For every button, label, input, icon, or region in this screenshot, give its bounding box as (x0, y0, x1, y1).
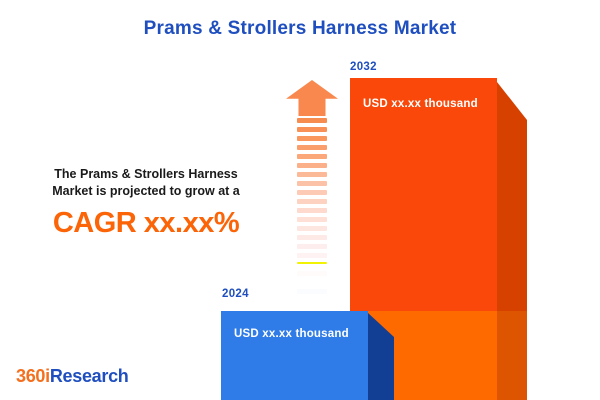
arrow-stripe (297, 181, 327, 186)
bar-2024-face (221, 311, 368, 400)
year-label-2032: 2032 (350, 61, 377, 73)
caption-line-1: The Prams & Strollers Harness (22, 166, 270, 183)
arrow-stripe (297, 163, 327, 168)
cagr-value: CAGR xx.xx% (22, 207, 270, 240)
page-title: Prams & Strollers Harness Market (0, 18, 600, 40)
bar-2024 (221, 311, 368, 400)
arrow-stripe (297, 262, 327, 264)
arrow-stripe (297, 271, 327, 276)
infographic-canvas: Prams & Strollers Harness Market 2032 US… (0, 0, 600, 400)
arrow-stripe (297, 190, 327, 195)
arrow-stripe (297, 235, 327, 240)
bar-2032-side-lower (497, 311, 527, 400)
growth-arrow-icon (286, 80, 338, 293)
logo-research-text: Research (50, 366, 129, 386)
arrow-head-icon (286, 80, 338, 116)
bar-value-2024: USD xx.xx thousand (234, 328, 349, 340)
arrow-stripe (297, 280, 327, 285)
arrow-stripe (297, 217, 327, 222)
arrow-stripe (297, 253, 327, 258)
arrow-stripe (297, 145, 327, 150)
arrow-stripe (297, 154, 327, 159)
growth-caption: The Prams & Strollers Harness Market is … (22, 166, 270, 240)
bar-value-2032: USD xx.xx thousand (363, 98, 478, 110)
arrow-stripe (297, 244, 327, 249)
arrow-stripe (297, 208, 327, 213)
year-label-2024: 2024 (222, 288, 249, 300)
arrow-stripe (297, 172, 327, 177)
arrow-stripe (297, 136, 327, 141)
arrow-stripe (297, 127, 327, 132)
arrow-stripe (297, 118, 327, 123)
logo-360i-text: 360i (16, 366, 50, 386)
arrow-stripes (297, 118, 327, 293)
caption-line-2: Market is projected to grow at a (22, 183, 270, 200)
company-logo: 360iResearch (16, 366, 129, 387)
arrow-stripe (297, 226, 327, 231)
arrow-stripe (297, 289, 327, 294)
arrow-stripe (297, 199, 327, 204)
bar-2032-face-upper (350, 78, 497, 311)
